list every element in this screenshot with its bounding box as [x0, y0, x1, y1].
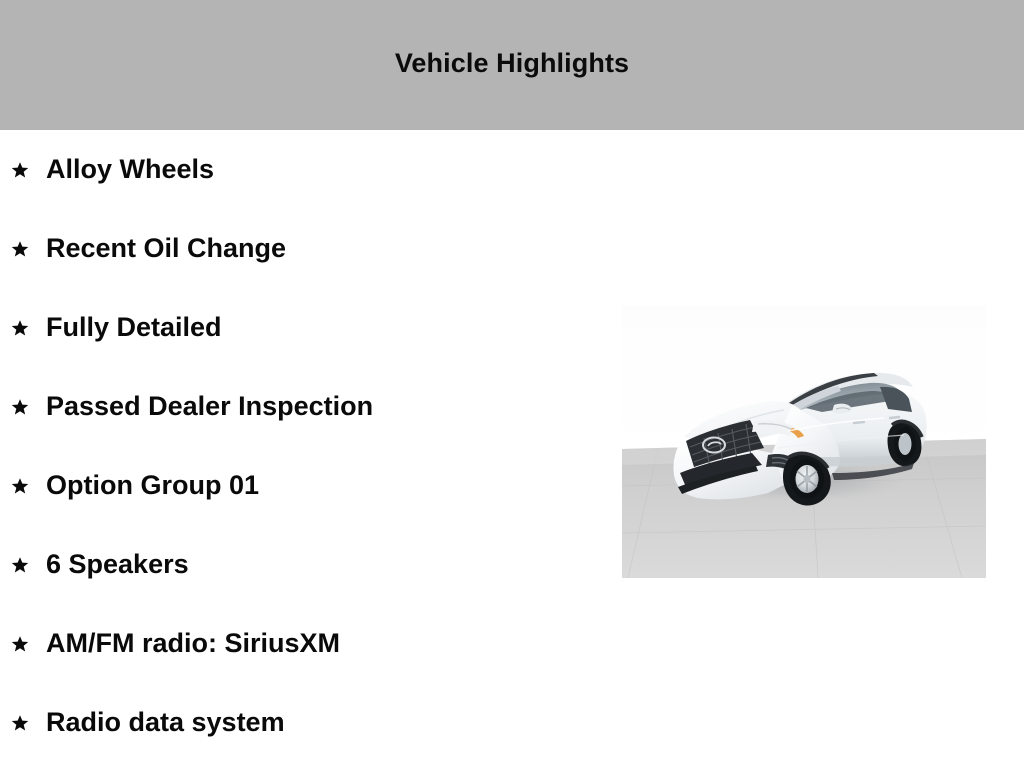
page-title: Vehicle Highlights: [395, 50, 629, 77]
list-item-label: Option Group 01: [46, 472, 259, 499]
star-icon: [11, 398, 33, 416]
list-item: 6 Speakers: [0, 525, 600, 604]
star-icon: [11, 714, 33, 732]
list-item: Recent Oil Change: [0, 209, 600, 288]
list-item-label: Recent Oil Change: [46, 235, 286, 262]
list-item: Passed Dealer Inspection: [0, 367, 600, 446]
vehicle-highlights-list: Alloy Wheels Recent Oil Change Fully Det…: [0, 130, 600, 762]
list-item-label: AM/FM radio: SiriusXM: [46, 630, 340, 657]
star-icon: [11, 240, 33, 258]
header-band: Vehicle Highlights: [0, 0, 1024, 130]
list-item: Radio data system: [0, 683, 600, 762]
star-icon: [11, 477, 33, 495]
list-item: Fully Detailed: [0, 288, 600, 367]
list-item-label: Radio data system: [46, 709, 285, 736]
star-icon: [11, 635, 33, 653]
list-item-label: Passed Dealer Inspection: [46, 393, 373, 420]
star-icon: [11, 161, 33, 179]
vehicle-photo: [622, 305, 986, 578]
star-icon: [11, 556, 33, 574]
list-item: Option Group 01: [0, 446, 600, 525]
list-item-label: Alloy Wheels: [46, 156, 214, 183]
list-item-label: 6 Speakers: [46, 551, 189, 578]
list-item-label: Fully Detailed: [46, 314, 222, 341]
list-item: AM/FM radio: SiriusXM: [0, 604, 600, 683]
list-item: Alloy Wheels: [0, 130, 600, 209]
star-icon: [11, 319, 33, 337]
